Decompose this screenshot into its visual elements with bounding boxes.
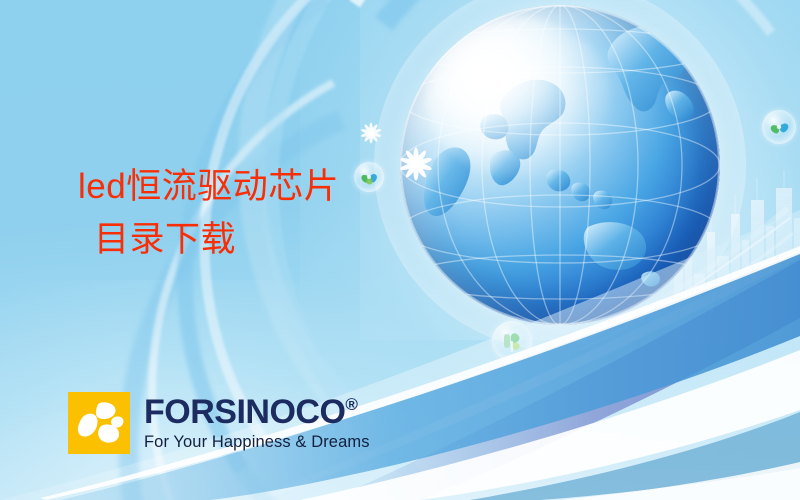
bubble-pinwheel-mid-icon [492, 321, 532, 361]
headline-line-2: 目录下载 [78, 213, 418, 266]
globe-specular-highlight [426, 18, 612, 178]
page-title: led恒流驱动芯片 目录下载 [78, 160, 418, 266]
bubble-pinwheel-right-icon [762, 110, 796, 144]
light-streaks [580, 190, 800, 370]
promo-banner: led恒流驱动芯片 目录下载 FORSINOCO® [0, 0, 800, 500]
forsinoco-flower-mark-icon [68, 392, 130, 454]
earth-globe-icon [400, 5, 720, 325]
background-glow-top-right [360, 0, 800, 340]
globe-rim-light [400, 5, 720, 325]
brand-tagline: For Your Happiness & Dreams [144, 433, 370, 451]
registered-trademark-icon: ® [345, 395, 358, 414]
headline-line-1: led恒流驱动芯片 [78, 167, 339, 206]
logo-text-block: FORSINOCO® For Your Happiness & Dreams [144, 395, 370, 451]
globe-glow-ring [374, 0, 746, 351]
globe-sphere [400, 5, 720, 325]
globe-continents [400, 5, 720, 325]
background-glow-bottom-left [0, 280, 460, 500]
city-skyline-icon [670, 170, 800, 350]
brand-name: FORSINOCO [144, 393, 345, 431]
starburst-small-icon [360, 122, 382, 149]
brand-logo[interactable]: FORSINOCO® For Your Happiness & Dreams [68, 392, 370, 454]
brand-wordmark: FORSINOCO® [144, 395, 370, 429]
